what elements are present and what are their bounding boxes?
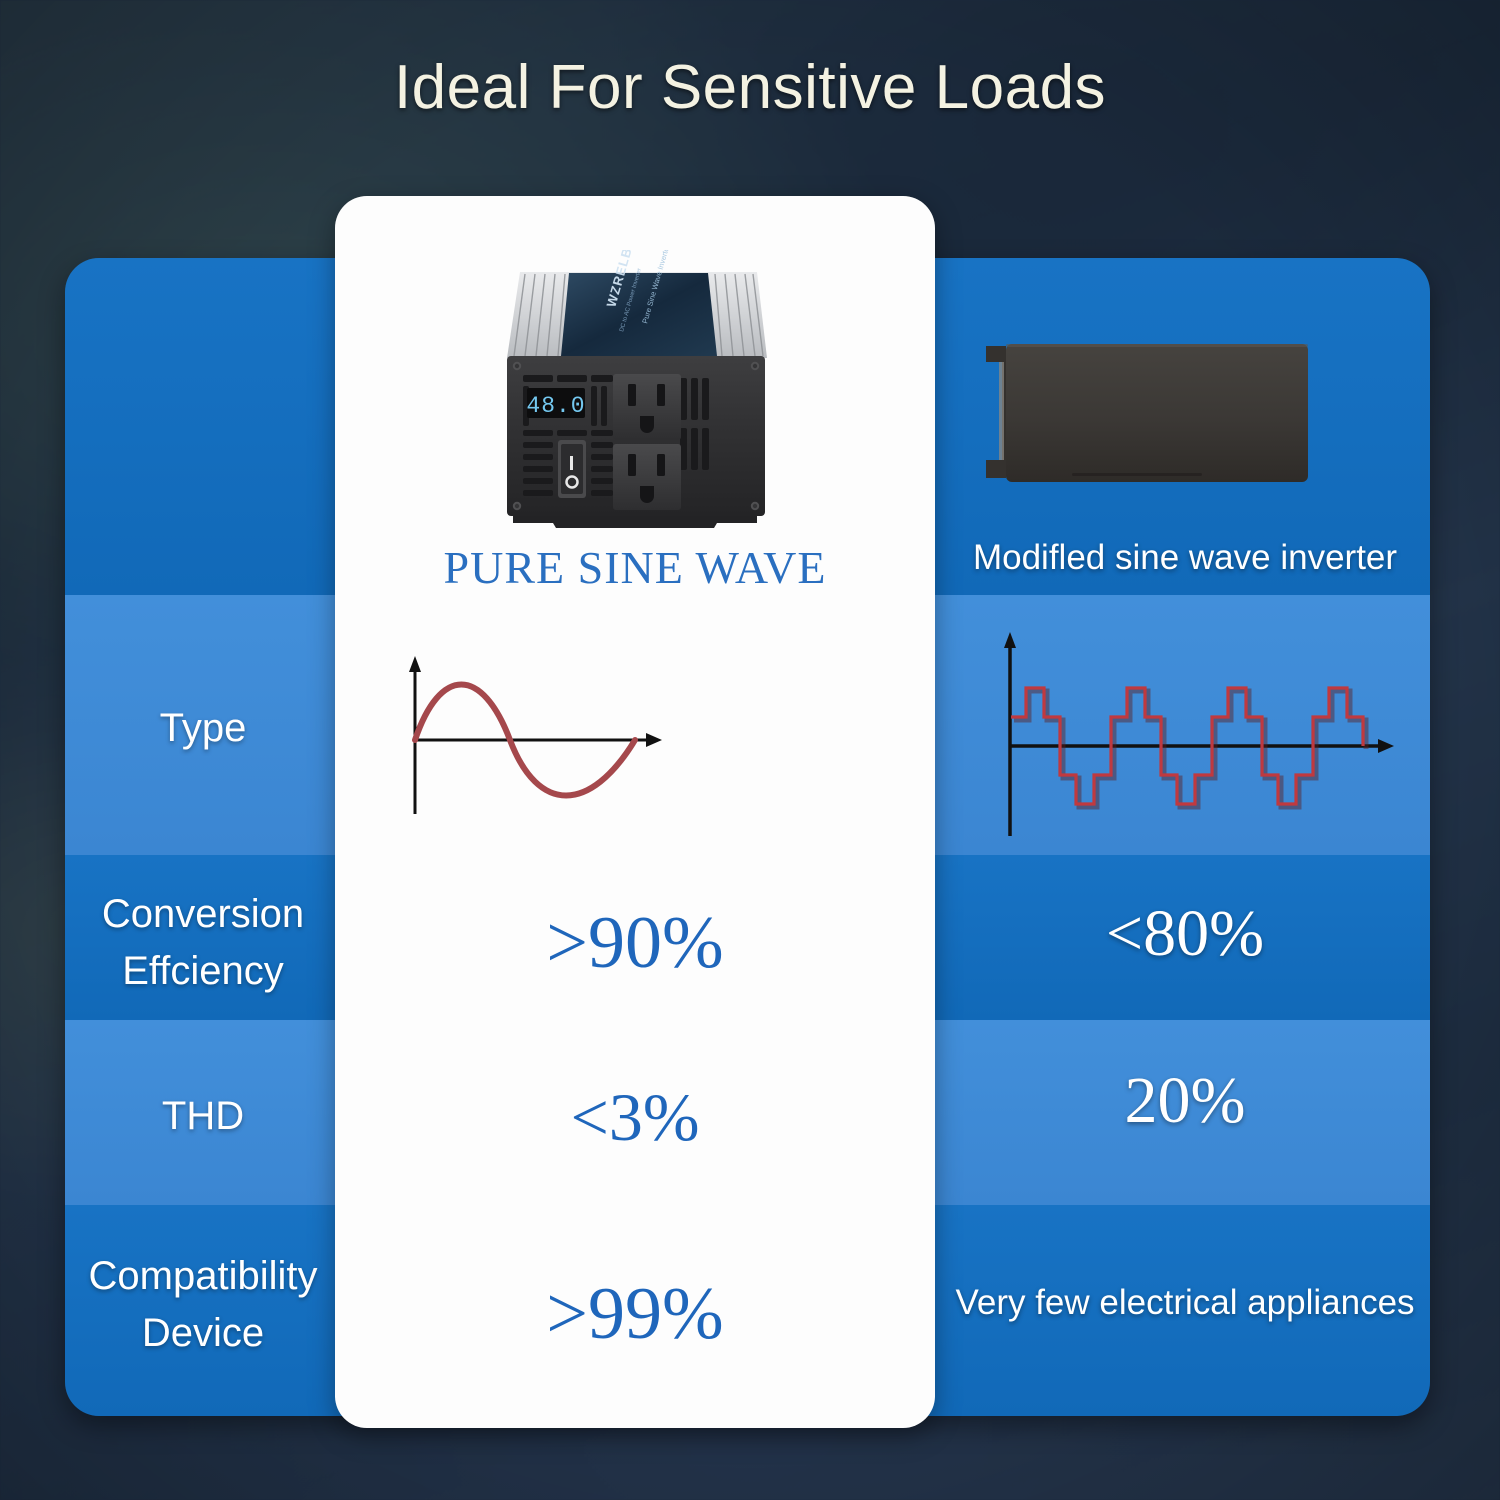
pure-sine-wave-inverter-photo: WZRELB Pure Sine Wave Inverter DC to AC …: [465, 250, 795, 540]
right-value-conversion-efficiency: <80%: [940, 896, 1430, 972]
right-value-thd: 20%: [940, 1063, 1430, 1139]
pure-sine-waveform-graphic: [390, 644, 690, 824]
center-value-compatibility-device: >99%: [335, 1272, 935, 1357]
row-label-type-text: Type: [160, 706, 247, 750]
row-label-conversion-efficiency: Conversion Effciency: [68, 886, 338, 1000]
row-label-type: Type: [68, 700, 338, 757]
right-column-caption: Modifled sine wave inverter: [940, 538, 1430, 578]
row-label-compatibility-device: Compatibility Device: [68, 1248, 338, 1362]
modified-sine-wave-inverter-photo: [972, 340, 1312, 488]
center-value-conversion-efficiency: >90%: [335, 901, 935, 986]
center-value-thd: <3%: [335, 1078, 935, 1157]
right-value-compatibility-device: Very few electrical appliances: [940, 1283, 1430, 1323]
page-title: Ideal For Sensitive Loads: [0, 52, 1500, 123]
row-label-compatibility-line1: Compatibility: [68, 1248, 338, 1305]
card-heading: PURE SINE WAVE: [335, 541, 935, 594]
row-label-thd-text: THD: [162, 1094, 244, 1138]
modified-sine-waveform-graphic: [980, 628, 1400, 850]
row-label-compatibility-line2: Device: [68, 1305, 338, 1362]
row-label-thd: THD: [68, 1088, 338, 1145]
pure-sine-wave-card: WZRELB Pure Sine Wave Inverter DC to AC …: [335, 196, 935, 1428]
led-display-value: 48.0: [526, 393, 585, 419]
row-label-conversion-line1: Conversion: [68, 886, 338, 943]
row-label-conversion-line2: Effciency: [68, 943, 338, 1000]
